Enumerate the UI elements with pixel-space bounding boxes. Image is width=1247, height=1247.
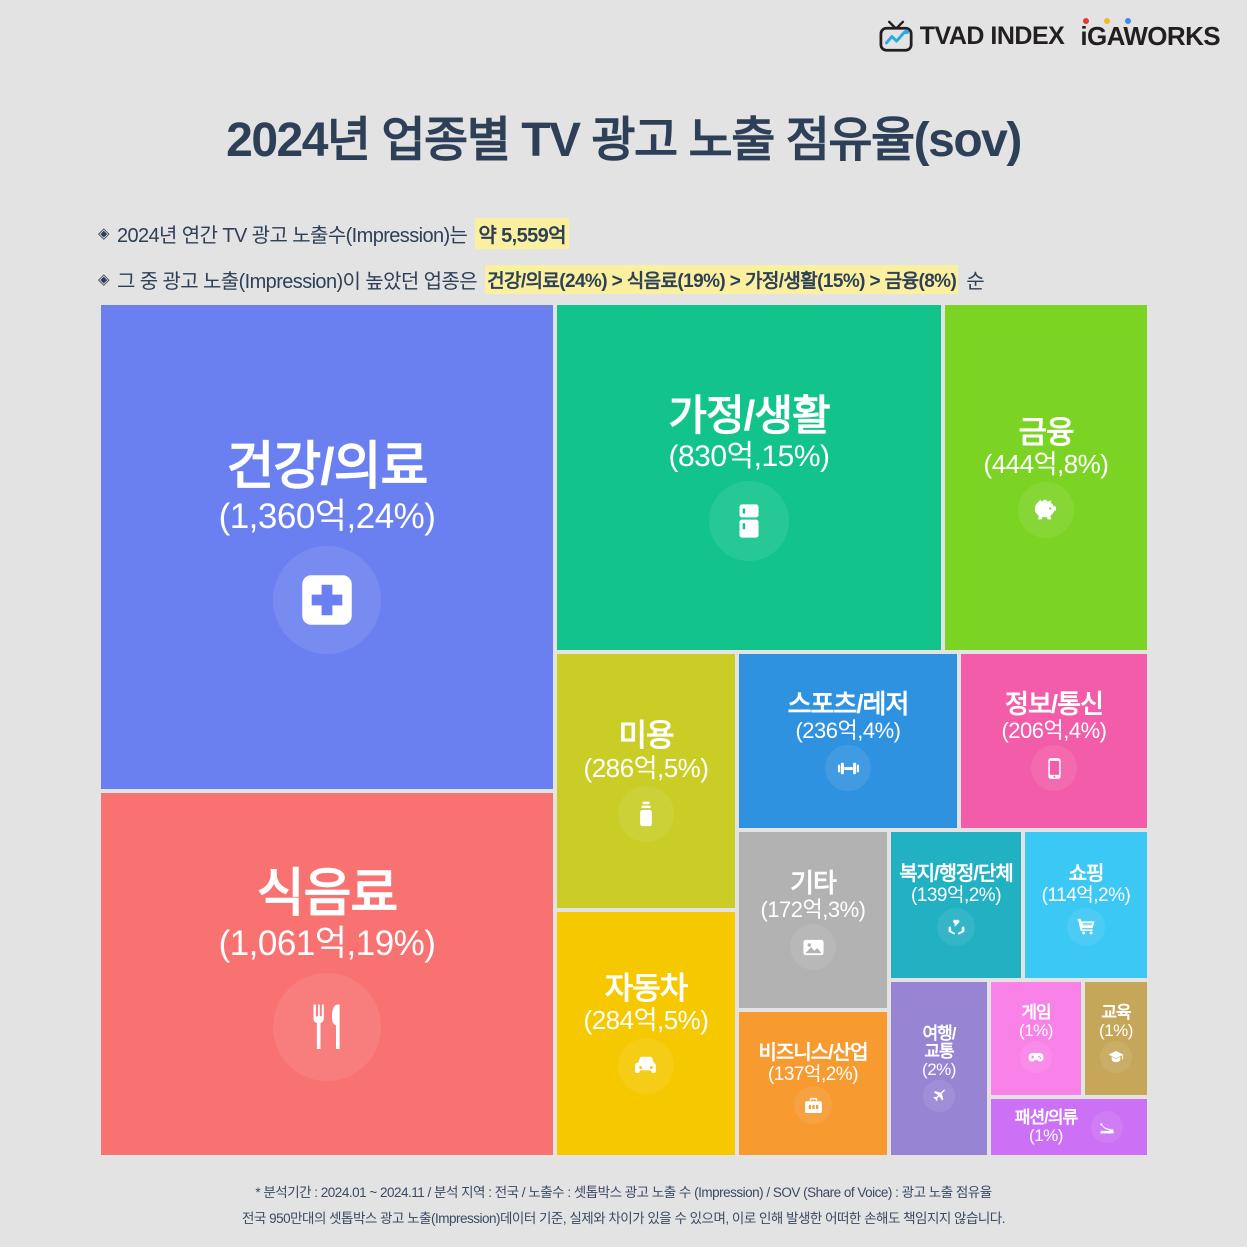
bullet-1-pre: 2024년 연간 TV 광고 노출수(Impression)는 [117, 219, 467, 248]
tile-value-shopping: (114억,2%) [1042, 886, 1131, 906]
car-icon [618, 1038, 674, 1094]
bullet-line-2: ◈ 그 중 광고 노출(Impression)이 높았던 업종은 건강/의료(2… [98, 265, 984, 294]
tile-value-game: (1%) [1019, 1022, 1053, 1040]
tile-label-telecom: 정보/통신 [1001, 691, 1106, 718]
treemap-tile-home[interactable]: 가정/생활(830억,15%) [557, 305, 941, 650]
tile-value-beauty: (286억,5%) [584, 755, 709, 782]
page-title: 2024년 업종별 TV 광고 노출 점유율(sov) [0, 100, 1247, 170]
bullet-2-highlight: 건강/의료(24%) > 식음료(19%) > 가정/생활(15%) > 금융(… [485, 265, 958, 294]
tile-text-etc: 기타(172억,3%) [760, 870, 865, 921]
sov-treemap: 건강/의료(1,360억,24%)식음료(1,061억,19%)가정/생활(83… [101, 305, 1147, 1155]
treemap-tile-auto[interactable]: 자동차(284억,5%) [557, 912, 735, 1155]
treemap-tile-beauty[interactable]: 미용(286억,5%) [557, 654, 735, 908]
tvad-index-wordmark: TVAD INDEX [920, 22, 1065, 51]
tile-label-food: 식음료 [219, 867, 436, 922]
tile-text-food: 식음료(1,061억,19%) [219, 867, 436, 962]
treemap-tile-telecom[interactable]: 정보/통신(206억,4%) [961, 654, 1147, 828]
bullet-marker-icon-2: ◈ [98, 272, 109, 287]
logo-dot-yellow [1104, 18, 1110, 24]
footnote: * 분석기간 : 2024.01 ~ 2024.11 / 분석 지역 : 전국 … [0, 1180, 1247, 1231]
tile-label-welfare: 복지/행정/단체 [899, 864, 1013, 885]
treemap-tile-fashion[interactable]: 패션/의류(1%) [991, 1099, 1147, 1155]
bullet-2-post: 순 [966, 265, 984, 294]
tile-text-home: 가정/생활(830억,15%) [668, 394, 829, 473]
logo-dot-red [1083, 18, 1089, 24]
briefcase-icon [794, 1086, 832, 1124]
fork-knife-icon [273, 973, 381, 1081]
tile-value-business: (137억,2%) [759, 1065, 868, 1085]
tile-label-etc: 기타 [760, 870, 865, 897]
high-heel-icon [1091, 1111, 1123, 1143]
infographic-page: TVAD INDEX iGAWORKS 2024년 업종별 TV 광고 노출 점… [0, 0, 1247, 1247]
brand-logos: TVAD INDEX iGAWORKS [878, 20, 1220, 53]
tile-value-auto: (284억,5%) [584, 1007, 709, 1034]
tile-label-shopping: 쇼핑 [1042, 864, 1131, 885]
tile-value-fashion: (1%) [1029, 1127, 1063, 1145]
shopping-cart-icon [1067, 908, 1105, 946]
tile-label-business: 비즈니스/산업 [759, 1043, 868, 1064]
tile-text-education: 교육(1%) [1099, 1004, 1133, 1040]
tile-text-business: 비즈니스/산업(137억,2%) [759, 1043, 868, 1085]
treemap-tile-travel[interactable]: 여행/ 교통(2%) [891, 982, 987, 1155]
tile-text-welfare: 복지/행정/단체(139억,2%) [899, 864, 1013, 906]
tile-label-travel: 여행/ 교통 [922, 1025, 956, 1061]
tile-value-health: (1,360억,24%) [219, 499, 436, 536]
treemap-tile-etc[interactable]: 기타(172억,3%) [739, 832, 887, 1008]
cosmetic-icon [618, 786, 674, 842]
tile-label-beauty: 미용 [584, 720, 709, 753]
tile-value-etc: (172억,3%) [760, 898, 865, 921]
medical-cross-icon [273, 546, 381, 654]
image-icon [790, 924, 836, 970]
treemap-tile-education[interactable]: 교육(1%) [1085, 982, 1147, 1095]
gamepad-icon [1020, 1041, 1052, 1073]
igaworks-dots [1083, 18, 1131, 24]
tile-value-food: (1,061억,19%) [219, 926, 436, 963]
treemap-tile-business[interactable]: 비즈니스/산업(137억,2%) [739, 1012, 887, 1155]
tile-text-fashion: 패션/의류(1%) [1015, 1109, 1077, 1145]
bullet-2-pre: 그 중 광고 노출(Impression)이 높았던 업종은 [117, 265, 477, 294]
tile-label-game: 게임 [1019, 1004, 1053, 1022]
treemap-tile-game[interactable]: 게임(1%) [991, 982, 1081, 1095]
hands-heart-icon [937, 908, 975, 946]
tile-label-finance: 금융 [984, 417, 1109, 450]
treemap-tile-health[interactable]: 건강/의료(1,360억,24%) [101, 305, 553, 789]
tile-text-auto: 자동차(284억,5%) [584, 973, 709, 1035]
airplane-icon [923, 1080, 955, 1112]
tile-label-fashion: 패션/의류 [1015, 1109, 1077, 1127]
dumbbell-icon [825, 745, 871, 791]
tile-label-auto: 자동차 [584, 973, 709, 1006]
bullet-1-highlight: 약 5,559억 [475, 218, 569, 249]
tvad-index-logo: TVAD INDEX [878, 20, 1065, 53]
graduation-cap-icon [1100, 1041, 1132, 1073]
tile-label-health: 건강/의료 [219, 440, 436, 495]
tile-text-finance: 금융(444억,8%) [984, 417, 1109, 479]
tile-value-finance: (444억,8%) [984, 451, 1109, 478]
tile-text-sports: 스포츠/레저(236억,4%) [788, 691, 909, 742]
summary-bullets: ◈ 2024년 연간 TV 광고 노출수(Impression)는 약 5,55… [98, 218, 984, 310]
bullet-marker-icon: ◈ [98, 226, 109, 241]
tile-value-travel: (2%) [922, 1061, 956, 1079]
tile-text-travel: 여행/ 교통(2%) [922, 1025, 956, 1079]
tile-text-health: 건강/의료(1,360억,24%) [219, 440, 436, 535]
tile-value-education: (1%) [1099, 1022, 1133, 1040]
smartphone-icon [1031, 745, 1077, 791]
treemap-tile-shopping[interactable]: 쇼핑(114억,2%) [1025, 832, 1147, 978]
tile-label-sports: 스포츠/레저 [788, 691, 909, 718]
treemap-tile-finance[interactable]: 금융(444억,8%) [945, 305, 1147, 650]
treemap-tile-sports[interactable]: 스포츠/레저(236억,4%) [739, 654, 957, 828]
igaworks-logo: iGAWORKS [1080, 21, 1220, 52]
treemap-tile-food[interactable]: 식음료(1,061억,19%) [101, 793, 553, 1155]
logo-dot-blue [1125, 18, 1131, 24]
footnote-line-2: 전국 950만대의 셋톱박스 광고 노출(Impression)데이터 기준, … [0, 1206, 1247, 1232]
piggy-bank-icon [1018, 482, 1074, 538]
tile-value-home: (830억,15%) [668, 441, 829, 473]
igaworks-wordmark: iGAWORKS [1080, 21, 1220, 52]
bullet-line-1: ◈ 2024년 연간 TV 광고 노출수(Impression)는 약 5,55… [98, 218, 984, 249]
treemap-tile-welfare[interactable]: 복지/행정/단체(139억,2%) [891, 832, 1021, 978]
tile-label-home: 가정/생활 [668, 394, 829, 438]
tile-text-game: 게임(1%) [1019, 1004, 1053, 1040]
tile-value-welfare: (139억,2%) [899, 886, 1013, 906]
tile-label-education: 교육 [1099, 1004, 1133, 1022]
tv-monitor-icon [878, 20, 915, 53]
refrigerator-icon [709, 481, 789, 561]
footnote-line-1: * 분석기간 : 2024.01 ~ 2024.11 / 분석 지역 : 전국 … [0, 1180, 1247, 1206]
tile-text-beauty: 미용(286억,5%) [584, 720, 709, 782]
tile-text-shopping: 쇼핑(114억,2%) [1042, 864, 1131, 906]
tile-text-telecom: 정보/통신(206억,4%) [1001, 691, 1106, 742]
tile-value-telecom: (206억,4%) [1001, 719, 1106, 742]
tile-value-sports: (236억,4%) [788, 719, 909, 742]
